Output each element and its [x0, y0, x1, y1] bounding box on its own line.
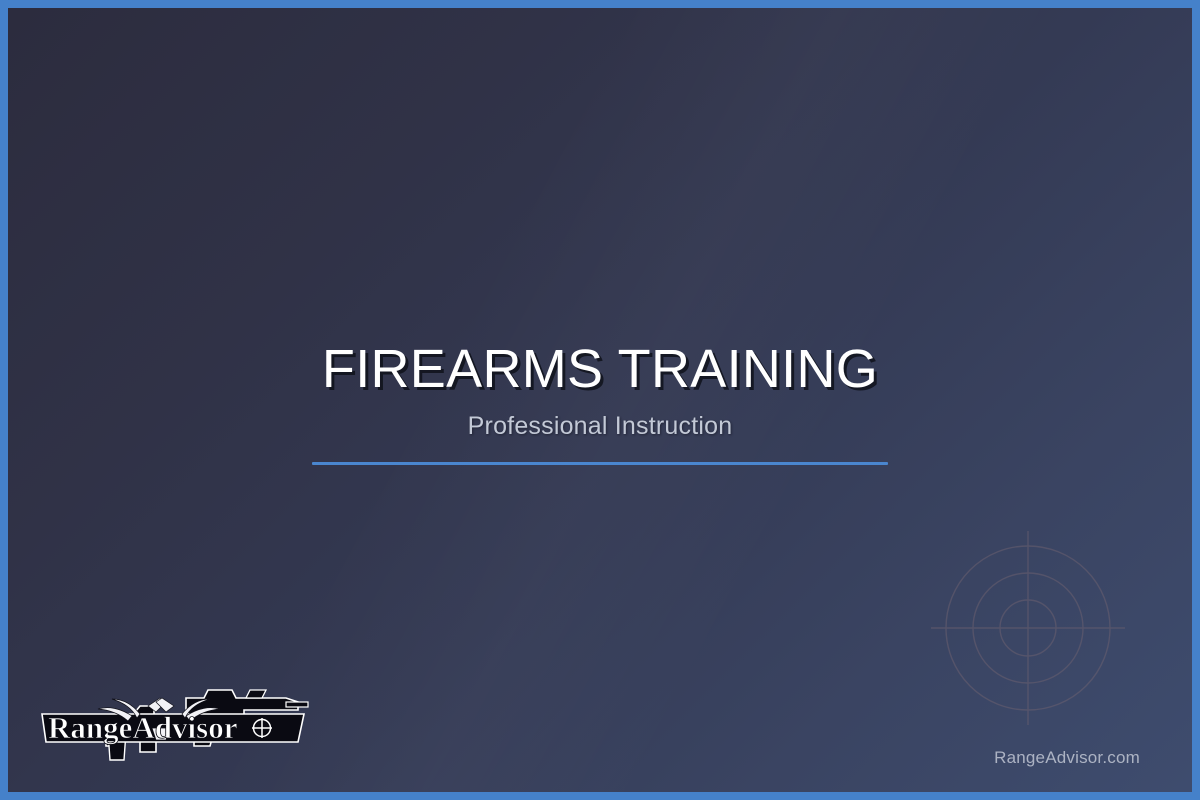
accent-divider [312, 462, 888, 465]
logo-wordmark: RangeAdvisor [48, 710, 238, 745]
title-slide: FIREARMS TRAINING Professional Instructi… [0, 0, 1200, 800]
title-block: FIREARMS TRAINING Professional Instructi… [8, 340, 1192, 465]
footer-url: RangeAdvisor.com [994, 748, 1140, 768]
brand-logo: RangeAdvisor [36, 676, 316, 768]
crosshair-target-icon [928, 528, 1128, 728]
page-subtitle: Professional Instruction [8, 412, 1192, 441]
page-title: FIREARMS TRAINING [8, 340, 1192, 398]
